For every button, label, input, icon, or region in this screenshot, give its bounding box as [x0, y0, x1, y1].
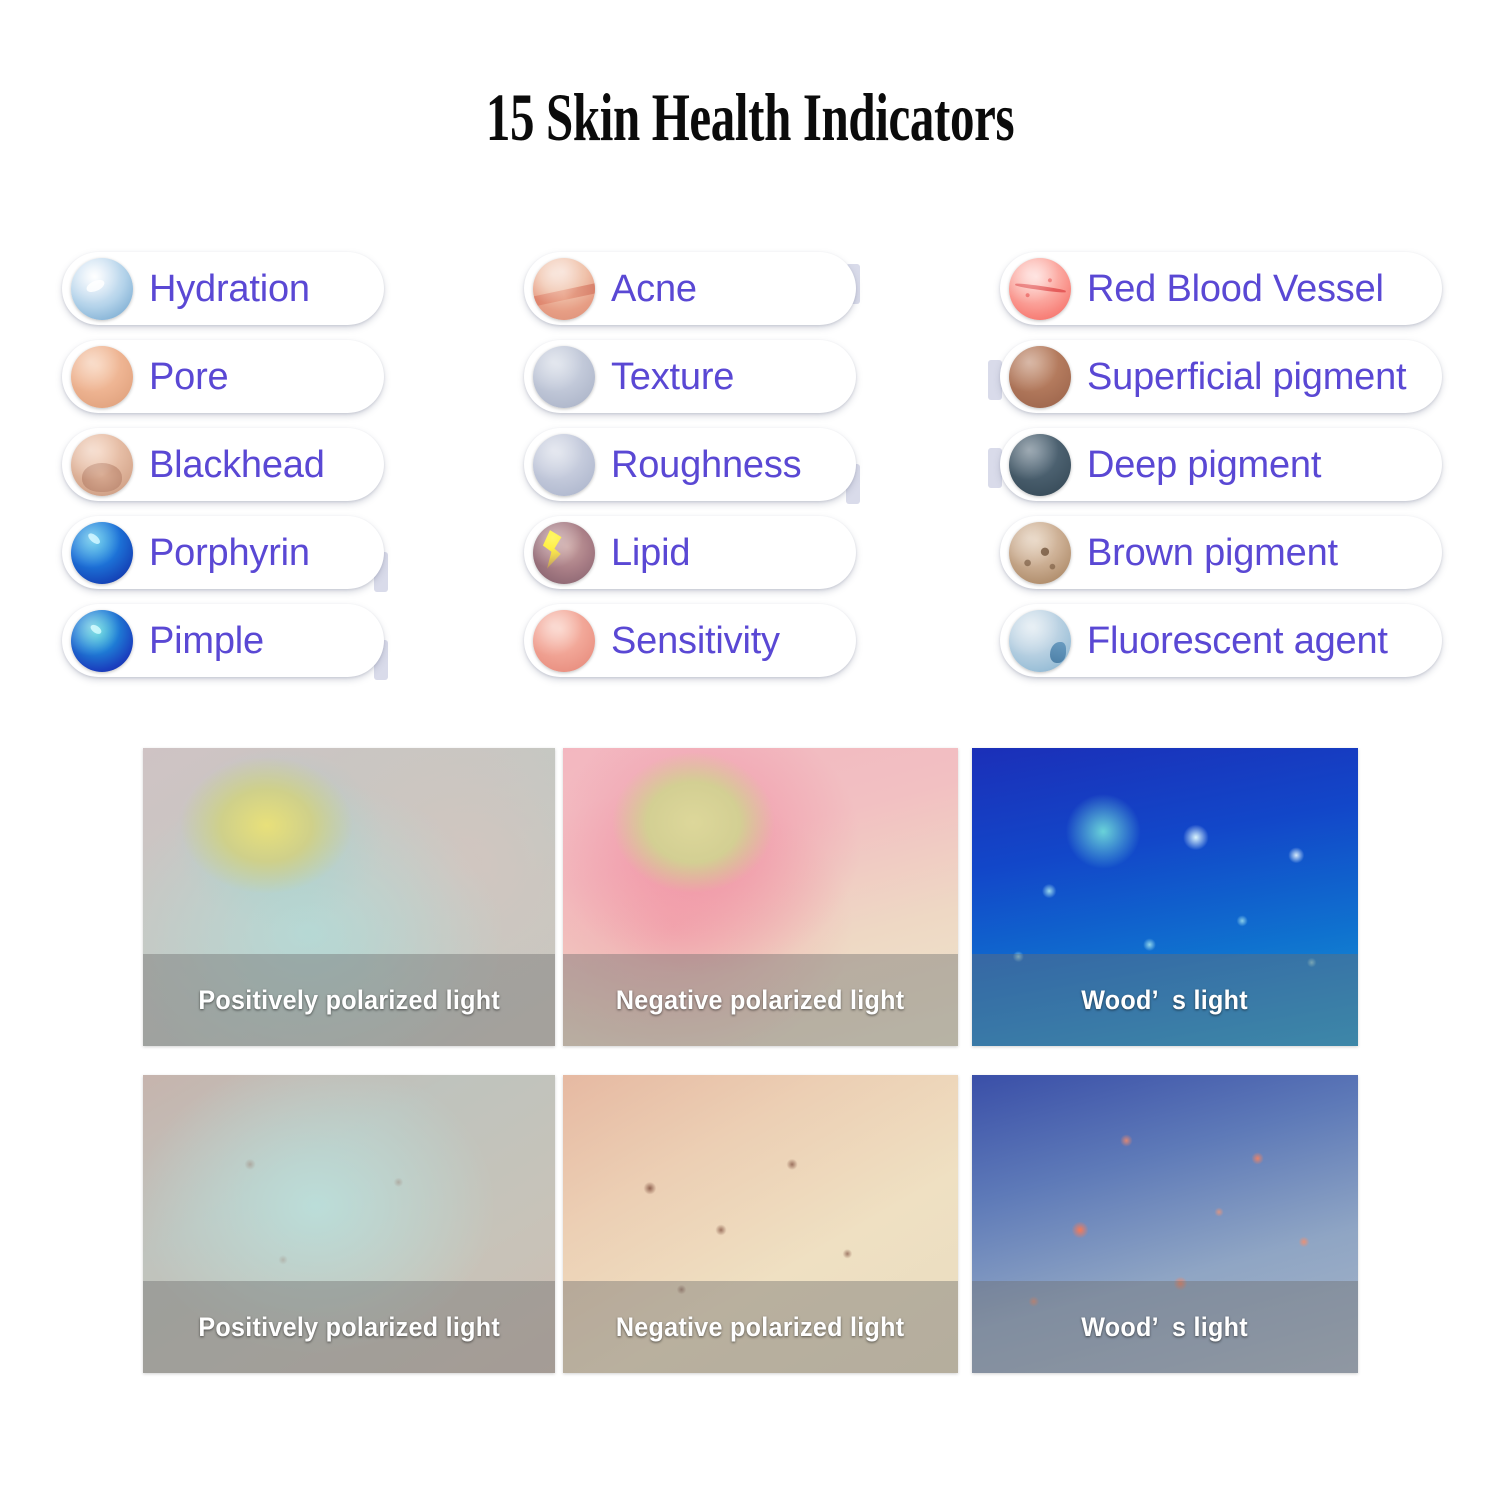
indicator-pill-blackhead[interactable]: Blackhead [62, 428, 384, 501]
page-title: 15 Skin Health Indicators [210, 78, 1290, 157]
indicator-label: Blackhead [149, 446, 325, 484]
indicator-pill-lipid[interactable]: Lipid [524, 516, 856, 589]
indicator-label: Porphyrin [149, 534, 310, 572]
indicator-pill-pimple[interactable]: Pimple [62, 604, 384, 677]
indicator-pill-red-blood-vessel[interactable]: Red Blood Vessel [1000, 252, 1442, 325]
indicator-label: Roughness [611, 446, 801, 484]
indicator-pill-hydration[interactable]: Hydration [62, 252, 384, 325]
photo-caption-band: Negative polarized light [563, 1281, 958, 1373]
photo-acne-woods-light[interactable]: Wood’ s light [972, 748, 1358, 1046]
pimple-uv-icon [71, 610, 133, 672]
photo-caption: Negative polarized light [616, 985, 905, 1016]
deep-pigment-icon [1009, 434, 1071, 496]
indicator-pill-fluorescent-agent[interactable]: Fluorescent agent [1000, 604, 1442, 677]
indicator-label: Lipid [611, 534, 690, 572]
indicator-pill-brown-pigment[interactable]: Brown pigment [1000, 516, 1442, 589]
photo-porphyrin-woods-light[interactable]: Wood’ s light [972, 1075, 1358, 1373]
fluorescent-agent-icon [1009, 610, 1071, 672]
pore-skin-icon [71, 346, 133, 408]
indicator-label: Brown pigment [1087, 534, 1338, 572]
indicator-label: Pimple [149, 622, 264, 660]
photo-caption: Wood’ s light [1082, 985, 1249, 1016]
photo-caption-band: Wood’ s light [972, 1281, 1358, 1373]
photo-caption: Negative polarized light [616, 1312, 905, 1343]
indicator-label: Hydration [149, 270, 310, 308]
photo-caption: Positively polarized light [198, 1312, 500, 1343]
indicator-pill-pore[interactable]: Pore [62, 340, 384, 413]
indicator-column-3: Red Blood Vessel Superficial pigment Dee… [1000, 252, 1442, 692]
indicator-label: Red Blood Vessel [1087, 270, 1384, 308]
indicator-label: Deep pigment [1087, 446, 1321, 484]
indicator-pill-deep-pigment[interactable]: Deep pigment [1000, 428, 1442, 501]
photo-caption-band: Positively polarized light [143, 1281, 555, 1373]
indicator-pill-porphyrin[interactable]: Porphyrin [62, 516, 384, 589]
sample-photo-grid: Positively polarized light Negative pola… [0, 748, 1500, 1468]
indicator-pill-superficial-pigment[interactable]: Superficial pigment [1000, 340, 1442, 413]
sensitivity-skin-icon [533, 610, 595, 672]
indicator-column-2: Acne Texture Roughness Lipid Sensitivity [524, 252, 856, 692]
porphyrin-uv-icon [71, 522, 133, 584]
photo-acne-negative-polarized[interactable]: Negative polarized light [563, 748, 958, 1046]
photo-caption-band: Wood’ s light [972, 954, 1358, 1046]
photo-acne-positively-polarized[interactable]: Positively polarized light [143, 748, 555, 1046]
indicator-pill-roughness[interactable]: Roughness [524, 428, 856, 501]
photo-caption-band: Negative polarized light [563, 954, 958, 1046]
indicator-label: Sensitivity [611, 622, 780, 660]
photo-caption-band: Positively polarized light [143, 954, 555, 1046]
indicator-label: Superficial pigment [1087, 358, 1406, 396]
photo-caption: Positively polarized light [198, 985, 500, 1016]
hydration-sphere-icon [71, 258, 133, 320]
photo-texture-positively-polarized[interactable]: Positively polarized light [143, 1075, 555, 1373]
indicator-pill-texture[interactable]: Texture [524, 340, 856, 413]
photo-caption: Wood’ s light [1082, 1312, 1249, 1343]
skin-indicator-list: Hydration Pore Blackhead Porphyrin Pimpl… [0, 252, 1500, 712]
superficial-pigment-icon [1009, 346, 1071, 408]
blackhead-nose-icon [71, 434, 133, 496]
indicator-column-1: Hydration Pore Blackhead Porphyrin Pimpl… [62, 252, 384, 692]
indicator-pill-acne[interactable]: Acne [524, 252, 856, 325]
indicator-label: Fluorescent agent [1087, 622, 1388, 660]
lipid-fluorescence-icon [533, 522, 595, 584]
indicator-label: Texture [611, 358, 734, 396]
photo-pores-negative-polarized[interactable]: Negative polarized light [563, 1075, 958, 1373]
texture-skin-icon [533, 346, 595, 408]
roughness-skin-icon [533, 434, 595, 496]
red-blood-vessel-icon [1009, 258, 1071, 320]
indicator-label: Acne [611, 270, 697, 308]
brown-pigment-icon [1009, 522, 1071, 584]
indicator-pill-sensitivity[interactable]: Sensitivity [524, 604, 856, 677]
indicator-label: Pore [149, 358, 228, 396]
acne-skin-icon [533, 258, 595, 320]
